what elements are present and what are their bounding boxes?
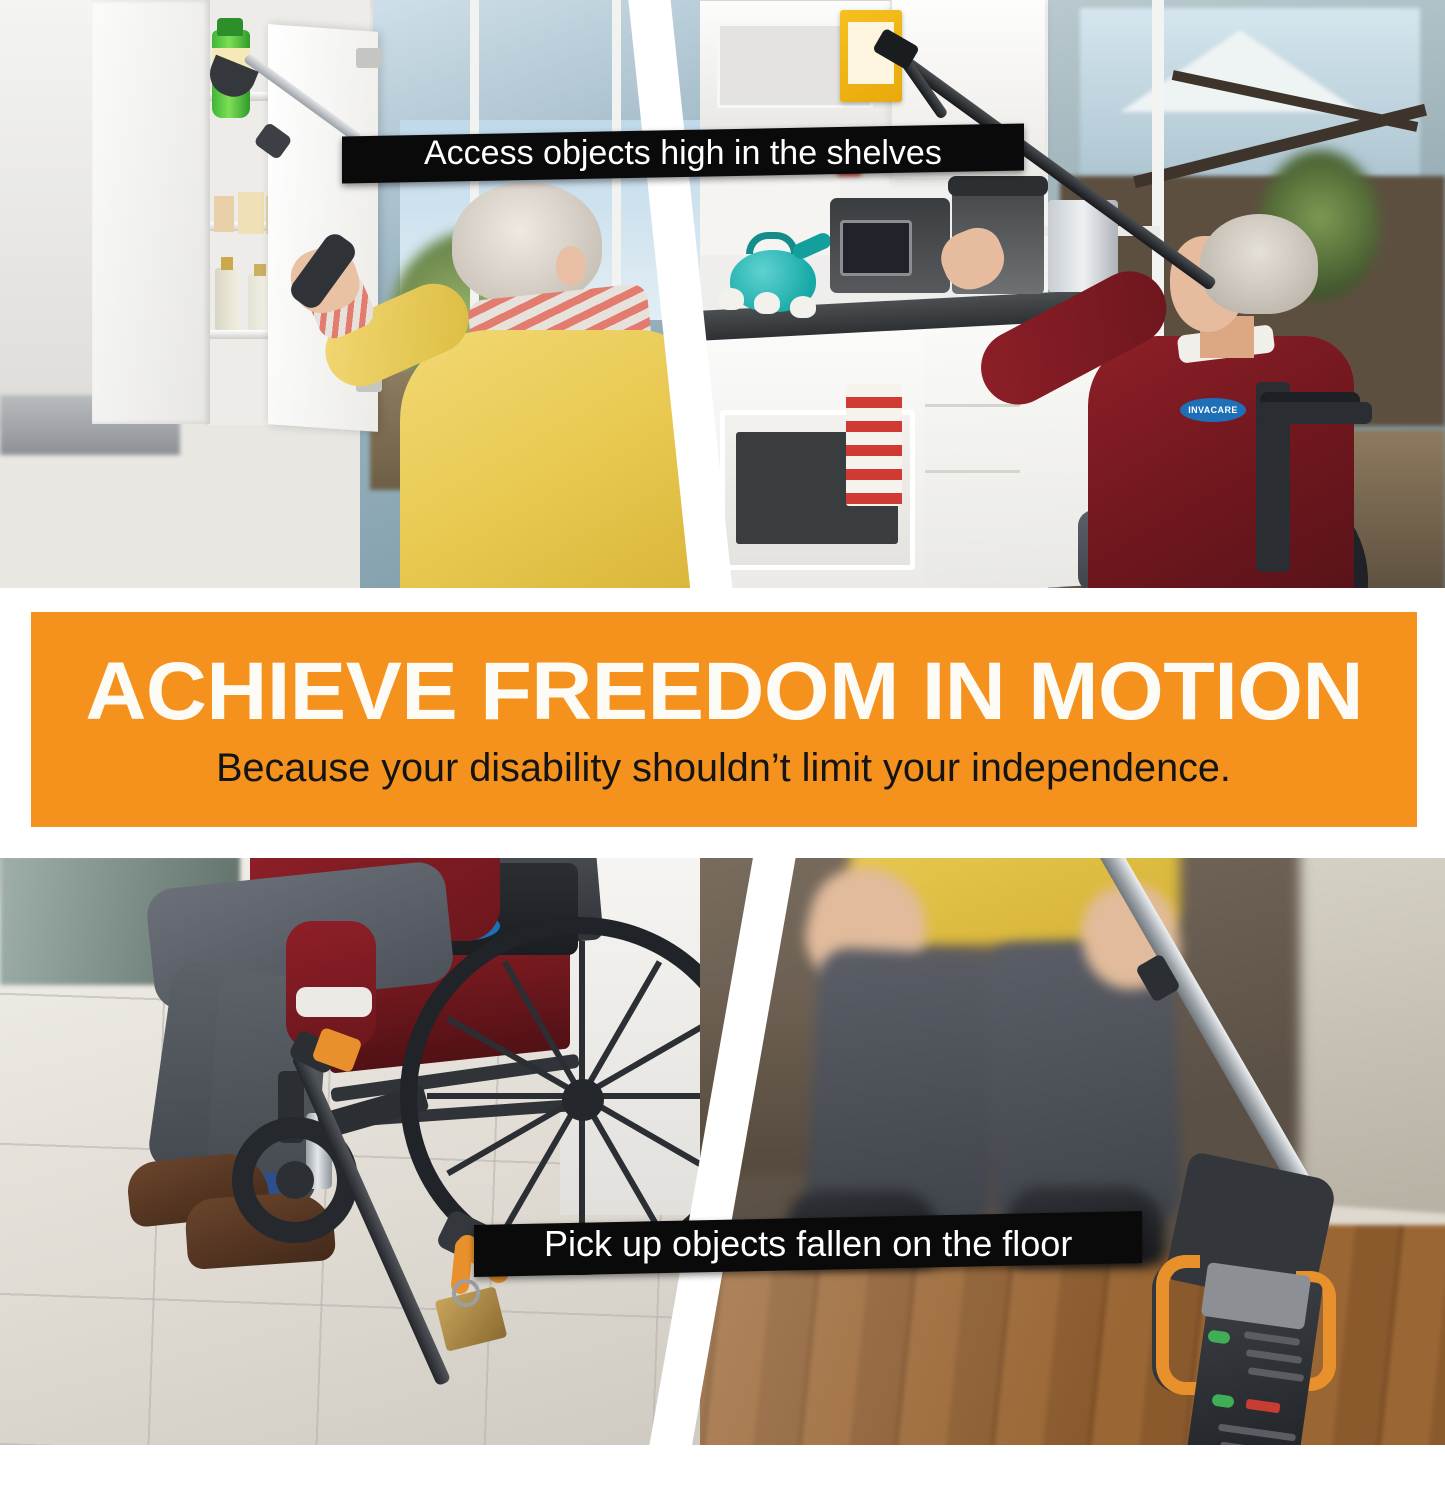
shirt-cuff: [296, 987, 372, 1017]
horizontal-gap-below-banner: [0, 824, 1445, 858]
panel-wheelchair-user-reaching-high-cabinet: INVACARE: [700, 0, 1445, 592]
page-subtitle: Because your disability shouldn’t limit …: [217, 747, 1232, 789]
panel-reaching-into-kitchen-cabinet: [0, 0, 700, 592]
panel-picking-up-remote-from-wood-floor: [700, 855, 1445, 1445]
cabinet-door-closed: [92, 0, 210, 424]
panel-picking-up-keys-from-tiled-floor: INVACARE: [0, 855, 700, 1445]
liquor-bottle: [215, 268, 239, 330]
striped-kitchen-towel: [846, 384, 902, 506]
soda-bottle-cap: [217, 18, 243, 36]
pressure-cooker-lid: [948, 176, 1048, 196]
orange-headline-banner: ACHIEVE FREEDOM IN MOTION Because your d…: [31, 612, 1417, 827]
burgundy-sweater: [1088, 336, 1354, 592]
invacare-logo: INVACARE: [1180, 398, 1246, 422]
caster-hub: [276, 1161, 314, 1199]
key-ring: [452, 1279, 480, 1307]
cabinet-hinge: [356, 48, 382, 68]
stove-knob: [754, 292, 780, 314]
person-hair: [1200, 214, 1318, 314]
caption-bottom-text: Pick up objects fallen on the floor: [544, 1223, 1072, 1265]
wheelchair-armrest: [1256, 402, 1372, 424]
toaster-oven: [830, 198, 950, 293]
invacare-logo-text: INVACARE: [1180, 398, 1246, 422]
stove-knob: [718, 288, 744, 310]
food-box: [238, 192, 264, 234]
stove-knob: [790, 296, 816, 318]
yellow-sweater: [400, 330, 700, 592]
page-title: ACHIEVE FREEDOM IN MOTION: [85, 651, 1363, 733]
person-ear: [556, 246, 586, 286]
canned-good: [214, 196, 234, 232]
reacher-orange-jaw: [1156, 1255, 1200, 1395]
caption-top-text: Access objects high in the shelves: [424, 134, 942, 173]
person-hair: [452, 182, 602, 304]
wheel-hub: [562, 1079, 604, 1121]
horizontal-gap-above-banner: [0, 588, 1445, 614]
product-feature-poster: INVACARE INVACARE: [0, 0, 1445, 1445]
leg: [805, 946, 1005, 1227]
